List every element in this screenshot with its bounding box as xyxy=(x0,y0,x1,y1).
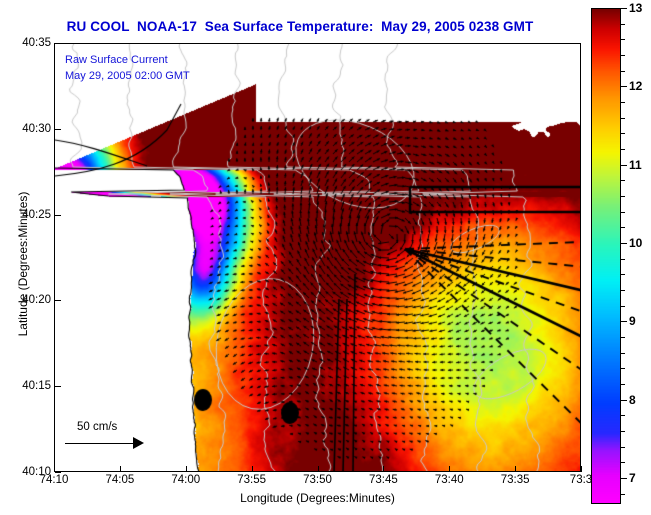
colorbar-tick xyxy=(621,165,627,166)
y-tick xyxy=(55,386,61,387)
y-tick xyxy=(55,215,61,216)
y-tick-label: 40:35 xyxy=(22,37,51,49)
colorbar-minor-tick xyxy=(621,149,625,150)
velocity-scale-bar: 50 cm/s xyxy=(54,421,183,451)
colorbar-tick-label: 13 xyxy=(629,1,642,15)
x-tick-label: 73:45 xyxy=(369,474,398,486)
x-tick-label: 73:50 xyxy=(303,474,332,486)
x-axis-title: Longitude (Degrees:Minutes) xyxy=(54,491,581,505)
x-tick xyxy=(252,466,253,472)
colorbar-minor-tick xyxy=(621,415,625,416)
y-tick-label: 40:15 xyxy=(22,380,51,392)
colorbar-minor-tick xyxy=(621,39,625,40)
annotation-line-2: May 29, 2005 02:00 GMT xyxy=(65,70,190,82)
x-tick xyxy=(318,466,319,472)
x-tick xyxy=(120,466,121,472)
x-tick-label: 74:05 xyxy=(105,474,134,486)
colorbar-tick-label: 10 xyxy=(629,236,642,250)
x-tick-label: 73:35 xyxy=(501,474,530,486)
y-axis-title: Latitude (Degrees:Minutes) xyxy=(16,149,30,379)
sst-map-plot[interactable]: Raw Surface Current May 29, 2005 02:00 G… xyxy=(54,43,581,472)
colorbar-minor-tick xyxy=(621,24,625,25)
sst-heatmap-canvas xyxy=(55,44,581,472)
x-tick xyxy=(449,466,450,472)
colorbar-minor-tick xyxy=(621,462,625,463)
y-tick xyxy=(55,300,61,301)
colorbar-tick xyxy=(621,478,627,479)
y-tick xyxy=(55,43,61,44)
y-tick-label: 40:10 xyxy=(22,466,51,478)
colorbar-minor-tick xyxy=(621,337,625,338)
colorbar-minor-tick xyxy=(621,384,625,385)
colorbar-tick xyxy=(621,243,627,244)
x-tick xyxy=(581,466,582,472)
x-tick xyxy=(515,466,516,472)
colorbar-minor-tick xyxy=(621,494,625,495)
x-tick-label: 73:40 xyxy=(435,474,464,486)
colorbar-tick xyxy=(621,321,627,322)
colorbar-minor-tick xyxy=(621,368,625,369)
colorbar-minor-tick xyxy=(621,133,625,134)
y-tick xyxy=(55,129,61,130)
page-title: RU COOL NOAA-17 Sea Surface Temperature:… xyxy=(0,19,600,34)
colorbar-minor-tick xyxy=(621,118,625,119)
x-tick-label: 73:3 xyxy=(570,474,592,486)
scale-bar-label: 50 cm/s xyxy=(77,421,183,433)
colorbar-tick xyxy=(621,8,627,9)
colorbar-minor-tick xyxy=(621,431,625,432)
colorbar-tick-label: 11 xyxy=(629,158,642,172)
colorbar-tick xyxy=(621,86,627,87)
x-tick xyxy=(186,466,187,472)
colorbar-tick-label: 9 xyxy=(629,314,636,328)
x-tick xyxy=(383,466,384,472)
colorbar-minor-tick xyxy=(621,55,625,56)
colorbar-minor-tick xyxy=(621,227,625,228)
colorbar-tick-label: 7 xyxy=(629,471,636,485)
colorbar-tick-label: 12 xyxy=(629,79,642,93)
colorbar-minor-tick xyxy=(621,196,625,197)
colorbar-minor-tick xyxy=(621,353,625,354)
y-tick xyxy=(55,472,61,473)
colorbar-minor-tick xyxy=(621,259,625,260)
colorbar-minor-tick xyxy=(621,274,625,275)
x-tick-label: 73:55 xyxy=(237,474,266,486)
colorbar-minor-tick xyxy=(621,447,625,448)
x-tick-label: 74:00 xyxy=(171,474,200,486)
colorbar-tick xyxy=(621,400,627,401)
scale-bar-arrow-icon xyxy=(54,435,183,451)
annotation-line-1: Raw Surface Current xyxy=(65,54,168,66)
y-tick-label: 40:30 xyxy=(22,123,51,135)
temperature-colorbar xyxy=(591,8,621,504)
colorbar-minor-tick xyxy=(621,306,625,307)
colorbar-minor-tick xyxy=(621,180,625,181)
colorbar-minor-tick xyxy=(621,71,625,72)
colorbar-minor-tick xyxy=(621,290,625,291)
colorbar-minor-tick xyxy=(621,102,625,103)
colorbar-gradient xyxy=(592,9,620,503)
colorbar-minor-tick xyxy=(621,212,625,213)
surface-current-annotation: Raw Surface Current May 29, 2005 02:00 G… xyxy=(65,52,190,84)
colorbar-tick-label: 8 xyxy=(629,393,636,407)
